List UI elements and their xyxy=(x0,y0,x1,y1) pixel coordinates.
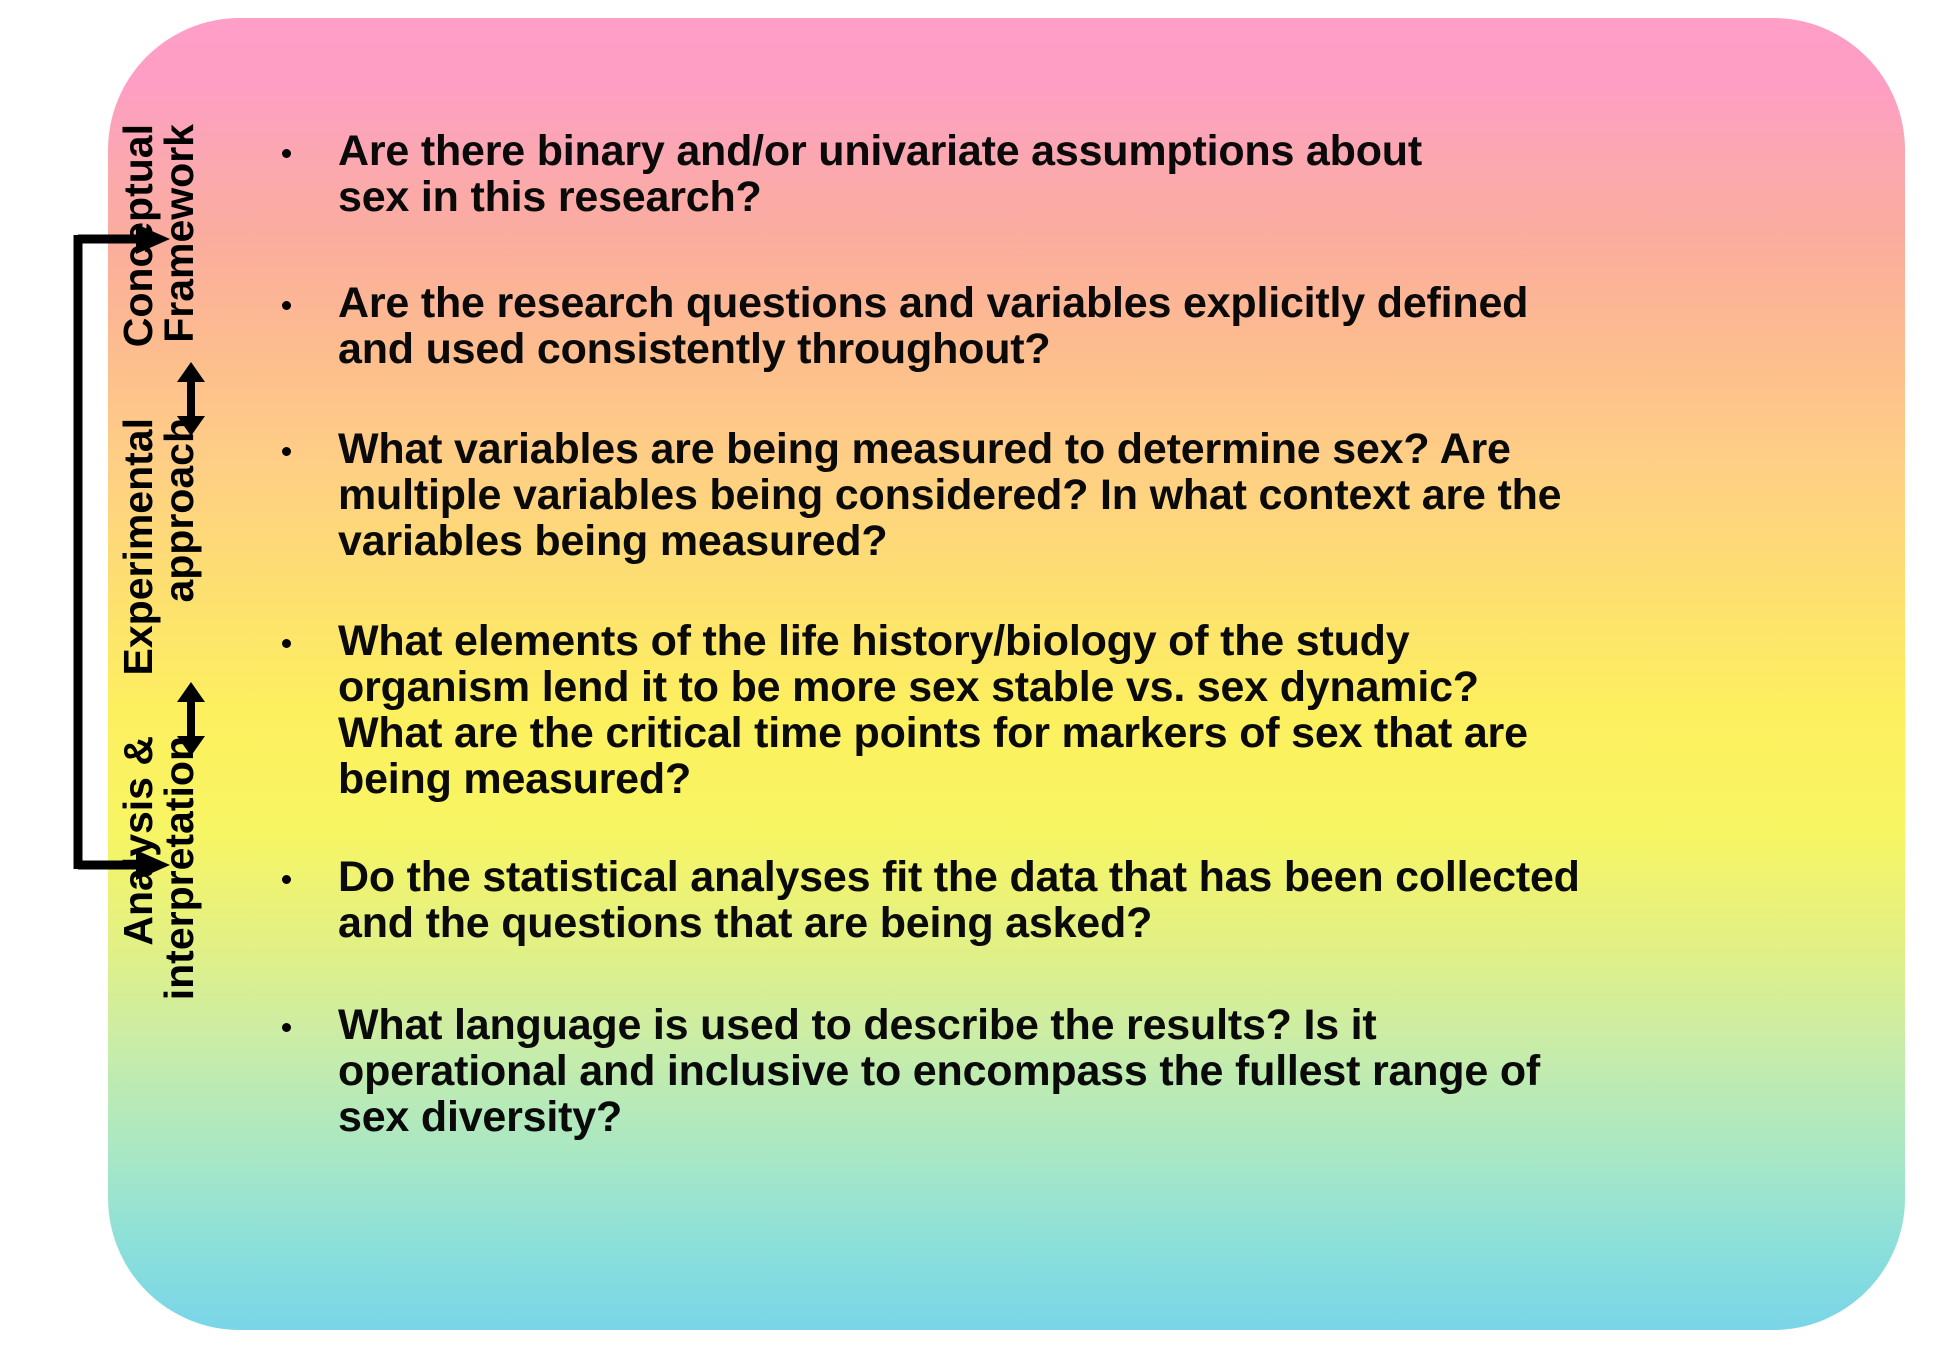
bullet-dot-icon xyxy=(282,1023,291,1032)
figure-canvas: Conceptual Framework Experimental approa… xyxy=(0,0,1949,1365)
bullet-dot-icon xyxy=(282,301,291,310)
checklist-questions: Are there binary and/or univariate assum… xyxy=(276,128,1836,1140)
list-item-text: Are the research questions and variables… xyxy=(338,279,1528,373)
list-item: Are there binary and/or univariate assum… xyxy=(276,128,1488,220)
stage-label-line2: interpretation xyxy=(159,736,200,1000)
list-item: What variables are being measured to det… xyxy=(276,426,1568,564)
stage-separator-1-icon xyxy=(176,362,206,436)
stage-label-line2: Framework xyxy=(159,124,200,343)
list-item-text: Do the statistical analyses fit the data… xyxy=(338,853,1580,947)
bullet-dot-icon xyxy=(282,149,291,158)
bullet-dot-icon xyxy=(282,639,291,648)
stage-label-line1: Conceptual xyxy=(118,124,159,347)
list-item: Do the statistical analyses fit the data… xyxy=(276,854,1588,946)
list-item-text: Are there binary and/or univariate assum… xyxy=(338,127,1422,221)
list-item-text: What language is used to describe the re… xyxy=(338,1001,1540,1141)
list-item: What language is used to describe the re… xyxy=(276,1002,1568,1140)
bullet-dot-icon xyxy=(282,447,291,456)
list-item-text: What elements of the life history/biolog… xyxy=(338,617,1528,803)
stage-separator-2-icon xyxy=(176,682,206,756)
stage-label-analysis-interpretation: Analysis & interpretation xyxy=(118,736,200,1076)
list-item: What elements of the life history/biolog… xyxy=(276,618,1588,802)
stage-label-line1: Experimental xyxy=(118,418,159,676)
list-item: Are the research questions and variables… xyxy=(276,280,1568,372)
stage-label-line2: approach xyxy=(159,418,200,603)
stage-label-line1: Analysis & xyxy=(118,736,159,946)
list-item-text: What variables are being measured to det… xyxy=(338,425,1561,565)
bullet-dot-icon xyxy=(282,875,291,884)
